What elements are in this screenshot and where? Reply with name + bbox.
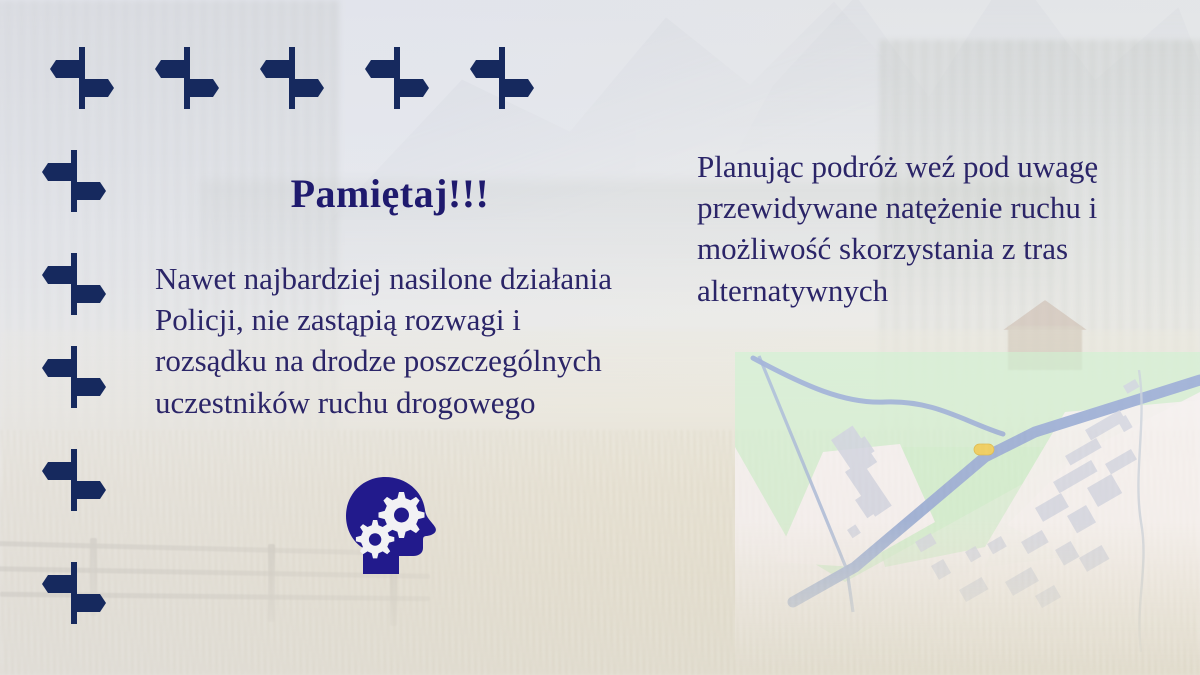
signpost-icon — [42, 251, 108, 317]
signpost-icon — [50, 45, 116, 111]
left-message-block: Nawet najbardziej nasilone działania Pol… — [155, 258, 630, 423]
signpost-icon — [42, 344, 108, 410]
signpost-icon — [260, 45, 326, 111]
right-message-block: Planując podróż weź pod uwagę przewidywa… — [697, 146, 1197, 311]
right-message-text: Planując podróż weź pod uwagę przewidywa… — [697, 146, 1197, 311]
page-title: Pamiętaj!!! — [155, 172, 625, 216]
gear-hub — [369, 533, 381, 545]
signpost-icon — [42, 447, 108, 513]
signpost-icon — [155, 45, 221, 111]
signpost-icon — [470, 45, 536, 111]
signpost-icon — [42, 148, 108, 214]
signpost-icon — [365, 45, 431, 111]
slide-canvas: Pamiętaj!!! Nawet najbardziej nasilone d… — [0, 0, 1200, 675]
map-overlay — [735, 352, 1200, 675]
signpost-icon — [42, 560, 108, 626]
route-shield-icon — [974, 444, 994, 455]
head-gears-icon — [337, 474, 447, 576]
gear-hub — [394, 508, 409, 523]
left-message-text: Nawet najbardziej nasilone działania Pol… — [155, 258, 630, 423]
